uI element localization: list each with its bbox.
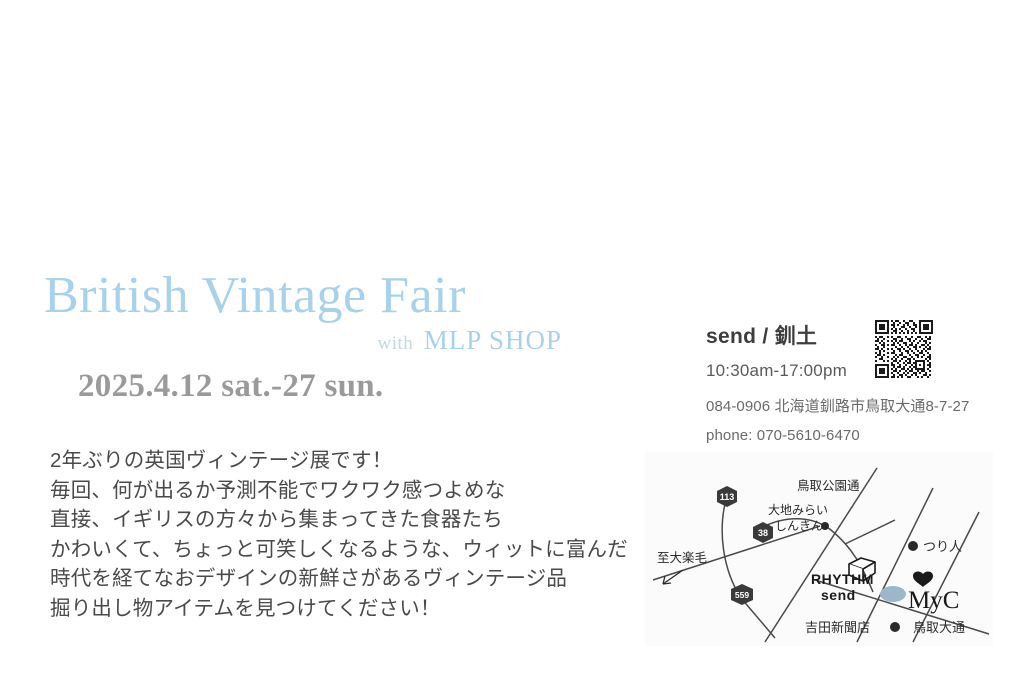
body-line: 直接、イギリスの方々から集まってきた食器たち — [50, 505, 620, 535]
poster-canvas: British Vintage Fair with MLP SHOP 2025.… — [0, 0, 1024, 692]
map-shop-marker-oval — [880, 586, 906, 602]
body-copy: 2年ぶりの英国ヴィンテージ展です！ 毎回、何が出るか予測不能でワクワク感つよめな… — [50, 446, 620, 623]
body-line: 掘り出し物アイテムを見つけてください！ — [50, 594, 620, 624]
map-poi-dot-fishing — [908, 541, 918, 551]
body-line: 時代を経てなおデザインの新鮮さがあるヴィンテージ品 — [50, 564, 620, 594]
event-date-range: 2025.4.12 sat.-27 sun. — [78, 368, 604, 405]
map-label-fishing-shop: つり人 — [923, 539, 962, 554]
map-label-myc: MyC — [908, 587, 959, 614]
shop-phone: phone: 070-5610-6470 — [706, 427, 996, 444]
map-label-shop-rhythm: RHYTHM — [811, 571, 874, 587]
location-map[interactable]: 113 38 559 至大楽毛 鳥取公園通 大地みらい — [645, 452, 993, 646]
route-marker-label: 113 — [720, 492, 735, 502]
title-block: British Vintage Fair with MLP SHOP 2025.… — [44, 268, 604, 405]
shop-info-block: send / 釧土 10:30am-17:00pm 084-0906 北海道釧路… — [706, 320, 996, 444]
shop-hours: 10:30am-17:00pm — [706, 361, 996, 381]
map-label-direction: 至大楽毛 — [657, 550, 708, 565]
shop-address: 084-0906 北海道釧路市鳥取大通8-7-27 — [706, 395, 996, 416]
route-marker-label: 559 — [735, 590, 749, 600]
subtitle-row: with MLP SHOP — [44, 325, 604, 356]
body-line: かわいくて、ちょっと可笑しくなるような、ウィットに富んだ — [50, 535, 620, 565]
page-title: British Vintage Fair — [44, 268, 604, 323]
map-poi-dot-bank — [821, 522, 829, 530]
map-label-shop-send: send — [821, 587, 856, 603]
route-marker-label: 38 — [758, 528, 768, 538]
map-label-park-street: 鳥取公園通 — [797, 478, 860, 493]
body-line: 毎回、何が出るか予測不能でワクワク感つよめな — [50, 476, 620, 506]
subtitle-brand-name: MLP SHOP — [424, 325, 562, 355]
map-label-newspaper-shop: 吉田新聞店 — [805, 620, 870, 635]
shop-name: send / 釧土 — [706, 320, 996, 350]
map-label-bank-line2: しんきん — [775, 519, 823, 533]
body-line: 2年ぶりの英国ヴィンテージ展です！ — [50, 446, 620, 476]
qr-code-icon[interactable] — [875, 320, 933, 378]
subtitle-with-label: with — [377, 333, 413, 354]
map-label-bank-line1: 大地みらい — [768, 503, 828, 517]
map-label-main-street: 鳥取大通 — [913, 620, 965, 635]
map-poi-dot-newspaper — [890, 622, 900, 632]
